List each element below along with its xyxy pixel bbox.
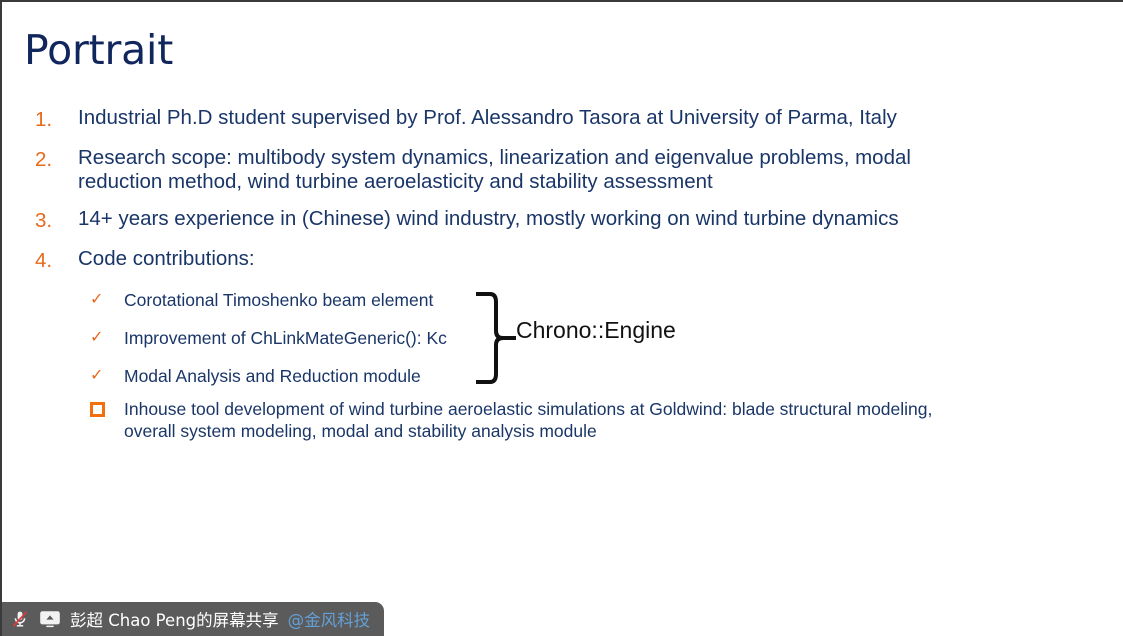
list-item-text: Research scope: multibody system dynamic… bbox=[78, 146, 978, 194]
brace-label: Chrono::Engine bbox=[516, 315, 676, 345]
list-item-text: 14+ years experience in (Chinese) wind i… bbox=[78, 207, 978, 231]
list-item: 3. 14+ years experience in (Chinese) win… bbox=[30, 207, 1090, 234]
screen-share-status-bar[interactable]: 彭超 Chao Peng的屏幕共享 @金风科技 bbox=[2, 602, 384, 636]
list-item: 4. Code contributions: bbox=[30, 247, 1090, 274]
list-item-label: Corotational Timoshenko beam element bbox=[124, 288, 433, 312]
list-item-line1: Code contributions: bbox=[78, 247, 255, 270]
list-item-line1: Research scope: multibody system dynamic… bbox=[78, 146, 911, 169]
check-icon: ✓ bbox=[90, 288, 124, 312]
list-item-label: Modal Analysis and Reduction module bbox=[124, 364, 421, 388]
list-marker: 4. bbox=[30, 247, 78, 274]
list-item-text: Code contributions: bbox=[78, 247, 978, 271]
microphone-muted-icon[interactable] bbox=[10, 609, 30, 629]
list-item: 2. Research scope: multibody system dyna… bbox=[30, 146, 1090, 194]
list-marker: 2. bbox=[30, 146, 78, 173]
list-item: Inhouse tool development of wind turbine… bbox=[90, 398, 1030, 442]
numbered-list: 1. Industrial Ph.D student supervised by… bbox=[30, 106, 1090, 287]
check-icon: ✓ bbox=[90, 326, 124, 350]
brace-group: Chrono::Engine bbox=[474, 291, 704, 385]
list-item-label: Improvement of ChLinkMateGeneric(): Kc bbox=[124, 326, 447, 350]
list-item-text: Industrial Ph.D student supervised by Pr… bbox=[78, 106, 978, 130]
list-item-line1: 14+ years experience in (Chinese) wind i… bbox=[78, 207, 899, 230]
screen-share-owner-label: 彭超 Chao Peng的屏幕共享 bbox=[70, 607, 279, 631]
presentation-slide: Portrait 1. Industrial Ph.D student supe… bbox=[0, 0, 1123, 636]
list-marker: 1. bbox=[30, 106, 78, 133]
list-item-line2: overall system modeling, modal and stabi… bbox=[124, 420, 1030, 442]
list-item: 1. Industrial Ph.D student supervised by… bbox=[30, 106, 1090, 133]
page-title: Portrait bbox=[24, 24, 173, 76]
square-bullet-icon bbox=[90, 398, 124, 417]
list-item-line1: Industrial Ph.D student supervised by Pr… bbox=[78, 106, 897, 129]
screen-share-host-label: @金风科技 bbox=[288, 607, 371, 631]
list-marker: 3. bbox=[30, 207, 78, 234]
list-item-line1: Inhouse tool development of wind turbine… bbox=[124, 399, 932, 419]
list-item-line2: reduction method, wind turbine aeroelast… bbox=[78, 170, 978, 194]
list-item-text: Inhouse tool development of wind turbine… bbox=[124, 398, 1030, 442]
screen-share-icon[interactable] bbox=[39, 610, 61, 628]
check-icon: ✓ bbox=[90, 364, 124, 388]
